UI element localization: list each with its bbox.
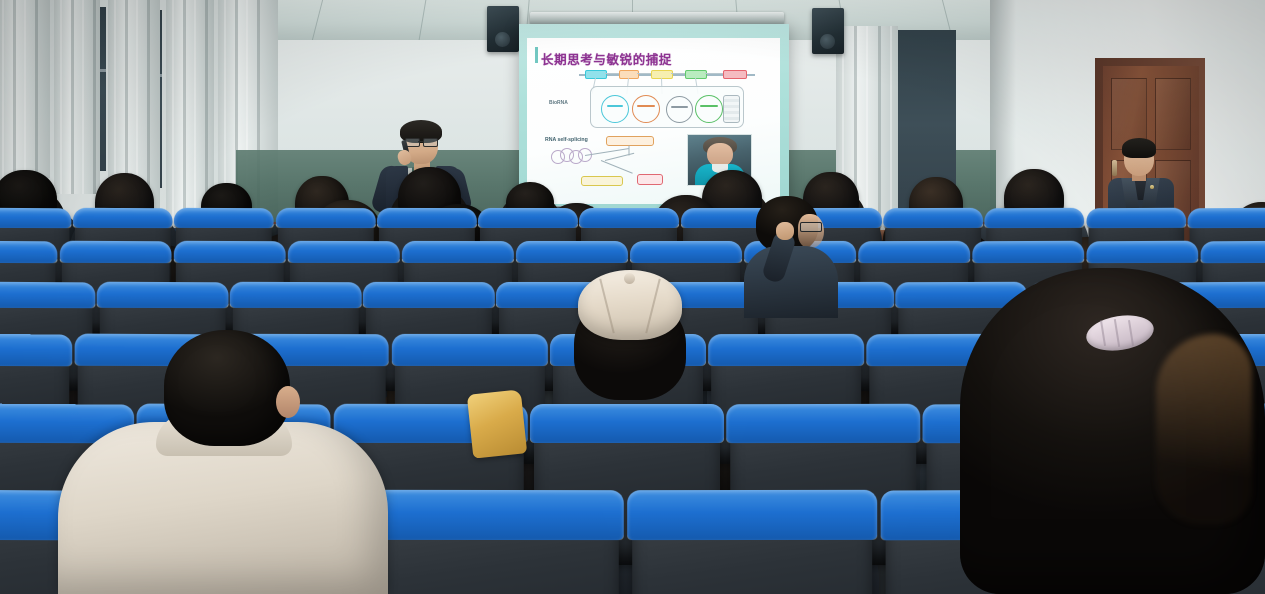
seat-blue-top bbox=[516, 241, 628, 263]
seat-blue-top bbox=[478, 208, 578, 228]
seat-blue-top bbox=[858, 241, 970, 264]
recorder-body bbox=[744, 246, 838, 318]
yellow-bag bbox=[467, 389, 527, 458]
seat-blue-top bbox=[97, 282, 228, 309]
seat-blue-top bbox=[174, 241, 286, 264]
seat-blue-top bbox=[374, 489, 624, 539]
seat-blue-top bbox=[174, 208, 274, 228]
seat-blue-top bbox=[1086, 241, 1198, 264]
seat-blue-top bbox=[884, 208, 984, 228]
seat-blue-top bbox=[1188, 208, 1265, 229]
seat-blue-top bbox=[627, 489, 877, 539]
lecture-hall-photo: 长期思考与敏锐的捕捉 BioRNA bbox=[0, 0, 1265, 594]
seat-blue-top bbox=[391, 334, 547, 365]
recorder-hand bbox=[776, 222, 794, 240]
seat-blue-top bbox=[0, 208, 71, 229]
seat-blue-top bbox=[985, 208, 1085, 228]
seat-blue-top bbox=[230, 282, 361, 309]
seat-blue-top bbox=[708, 334, 864, 365]
recorder-person bbox=[742, 196, 838, 316]
hoodie-person bbox=[58, 330, 388, 594]
seat-blue-top bbox=[972, 241, 1084, 264]
seat-blue-top bbox=[288, 241, 400, 264]
seat-blue-top bbox=[1086, 208, 1185, 228]
seat-blue-top bbox=[275, 208, 375, 228]
seat-blue-top bbox=[73, 208, 172, 228]
auditorium-seat[interactable] bbox=[379, 505, 619, 594]
seat-blue-top bbox=[0, 281, 95, 308]
auditorium-seat[interactable] bbox=[632, 505, 872, 594]
recorder-glasses bbox=[800, 222, 822, 232]
seat-blue-top bbox=[579, 208, 679, 228]
cap-button bbox=[624, 273, 635, 284]
seat-blue-top bbox=[60, 241, 172, 264]
hoodie-person-head bbox=[164, 330, 290, 446]
seat-blue-top bbox=[363, 282, 494, 308]
cap-person bbox=[560, 262, 700, 412]
hoodie-person-ear bbox=[276, 386, 300, 418]
seat-blue-top bbox=[402, 241, 514, 264]
seat-blue-top bbox=[727, 404, 920, 443]
seat-blue-top bbox=[1200, 241, 1265, 264]
seat-blue-top bbox=[377, 208, 477, 228]
hair-highlight bbox=[1156, 334, 1252, 524]
scrunchie-person bbox=[960, 268, 1265, 594]
seat-blue-top bbox=[0, 241, 58, 264]
seat-blue-top bbox=[630, 241, 742, 263]
